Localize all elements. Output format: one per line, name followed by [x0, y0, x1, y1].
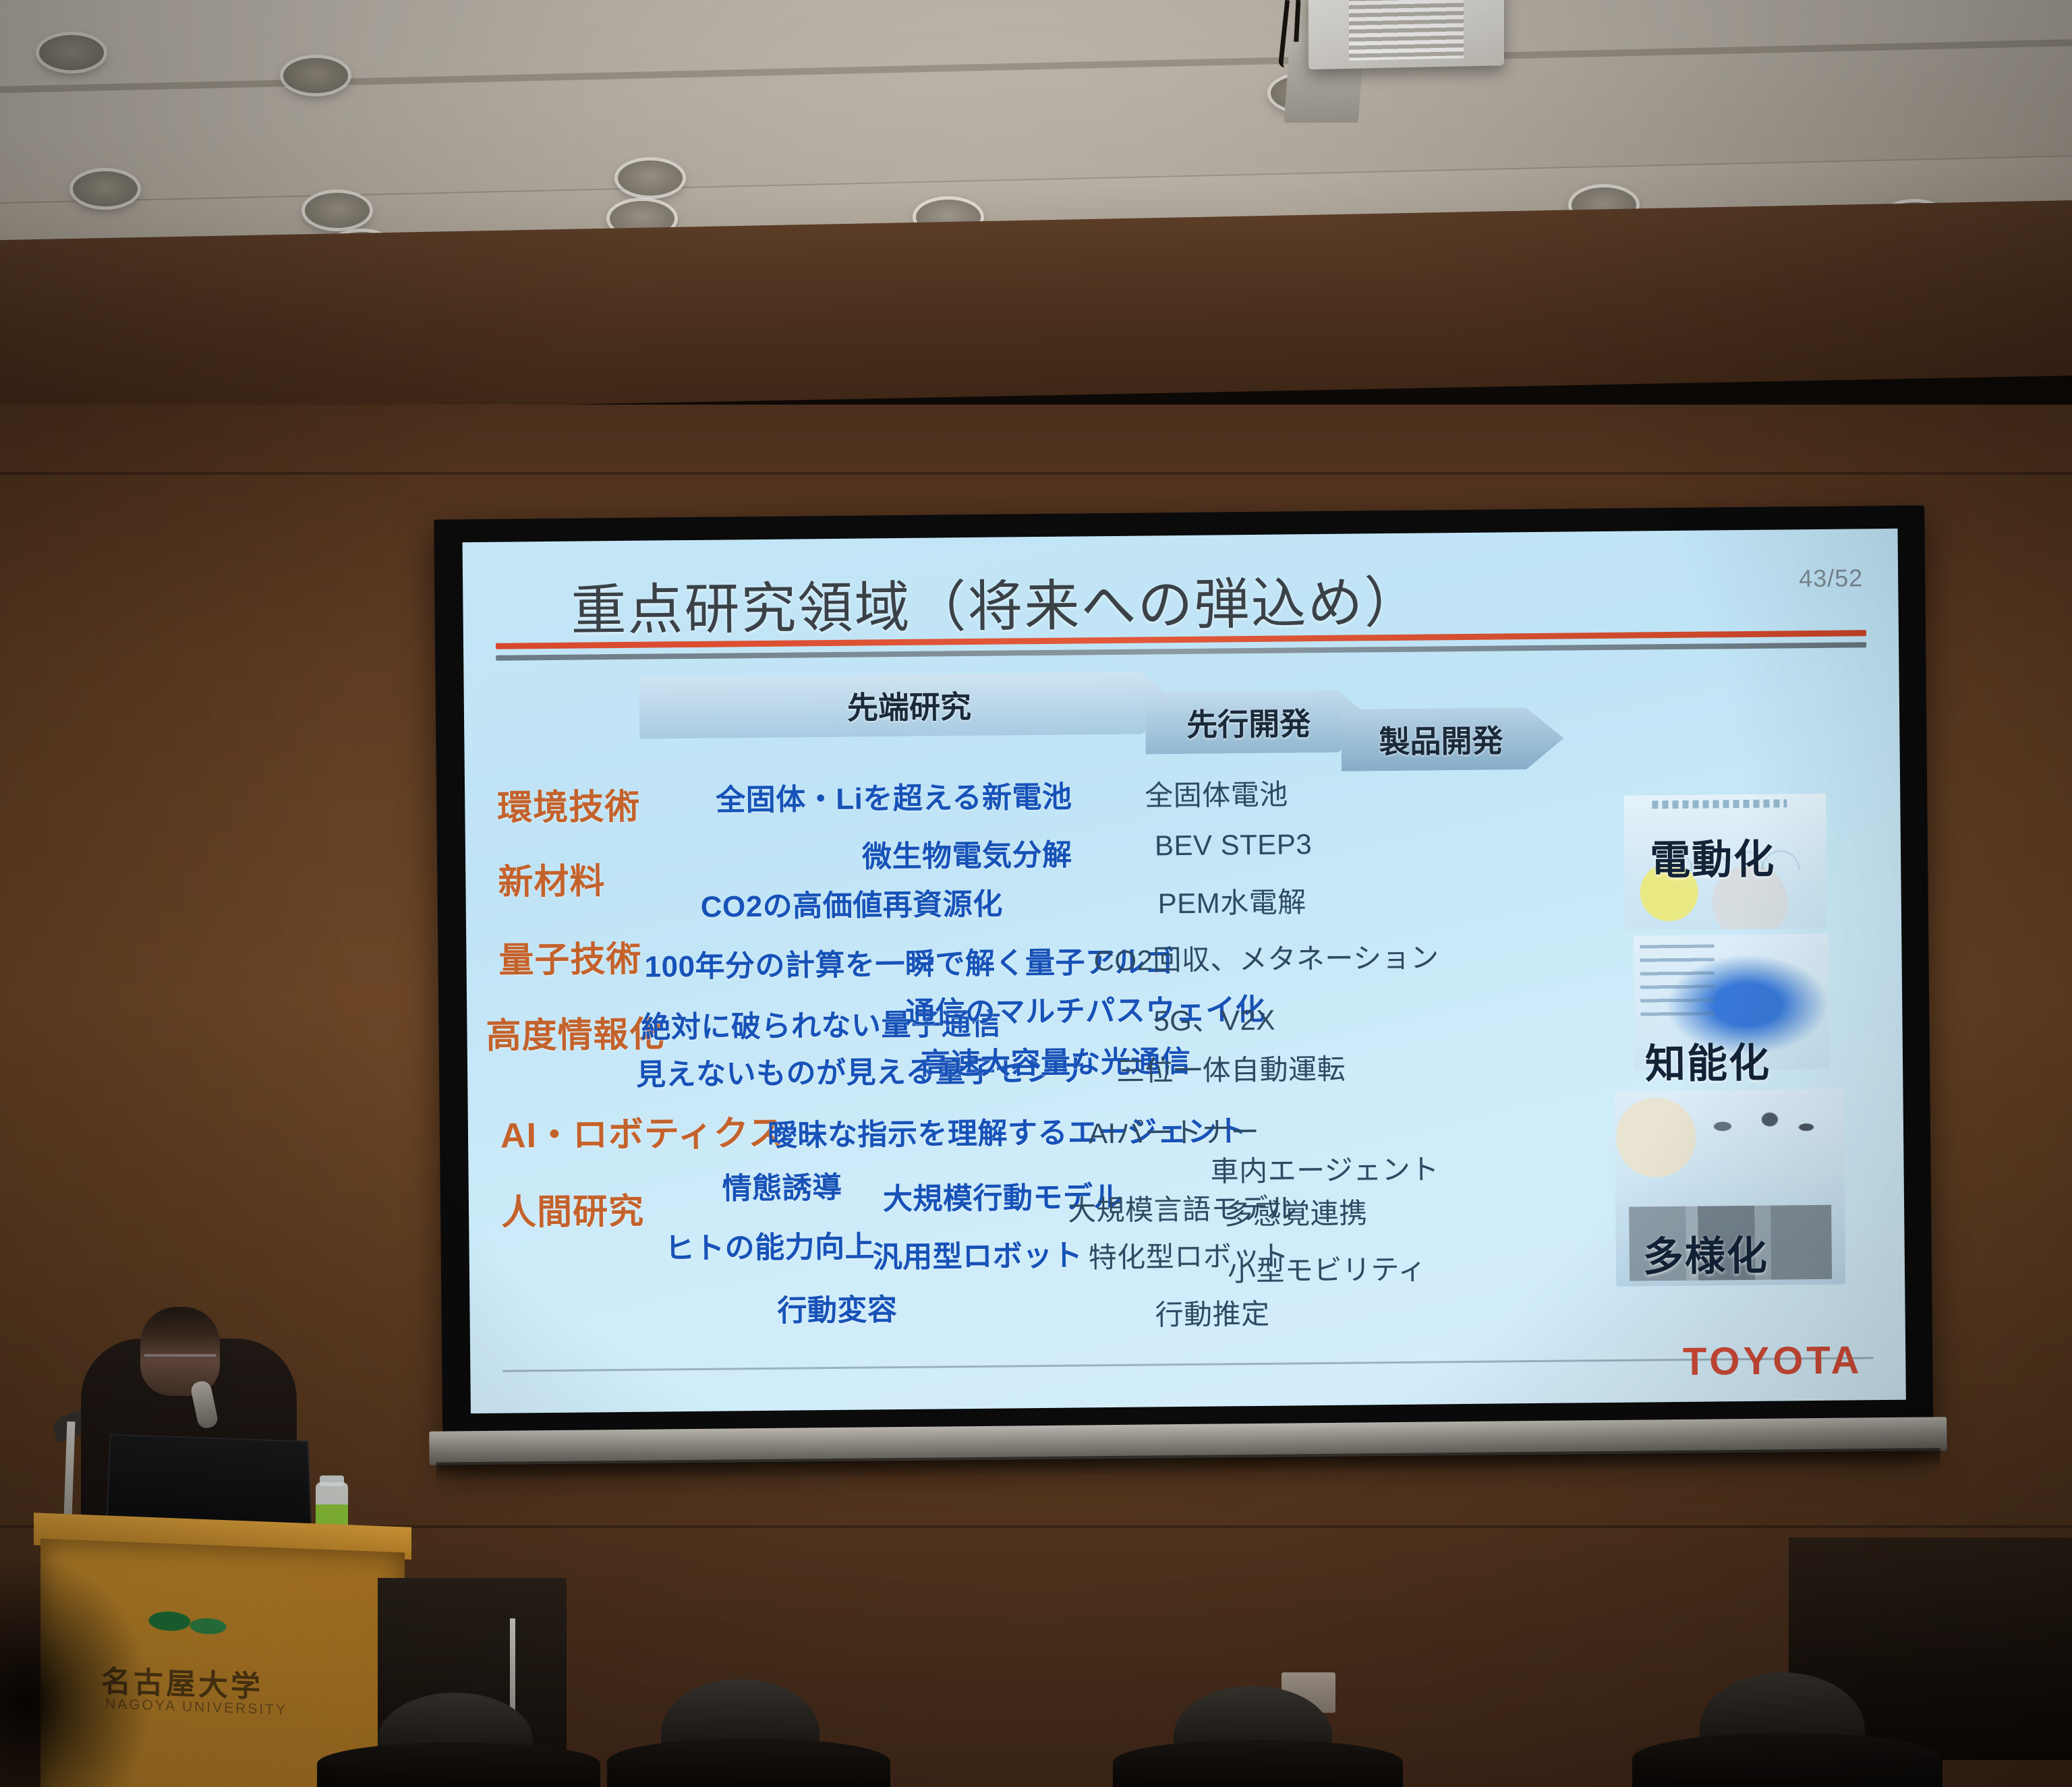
audience-shoulders: [317, 1742, 600, 1787]
category-label-environment: 環境技術: [497, 778, 641, 830]
slide-footer-rule: [502, 1357, 1873, 1372]
phase-arrow-band: 先端研究 先行開発 製品開発: [463, 661, 1899, 762]
ceiling-downlight-icon: [39, 35, 104, 70]
research-item: 全固体・Liを超える新電池: [716, 773, 1072, 819]
projection-screen: 重点研究領域（将来への弾込め） 43/52 先端研究 先行開発 製品開発 環境技…: [434, 505, 1934, 1477]
audience-shoulders: [1113, 1740, 1403, 1787]
ceiling-downlight-icon: [618, 160, 683, 196]
development-item: 行動推定: [1155, 1291, 1270, 1334]
phase-arrow-advanced-research: 先端研究: [639, 672, 1179, 739]
thumbnail-caption-strip: [1652, 799, 1787, 809]
phase-label: 製品開発: [1379, 716, 1503, 762]
projector-vent-icon: [1349, 0, 1464, 61]
wall-seam: [0, 472, 2072, 475]
category-label-quantum: 量子技術: [498, 931, 642, 983]
phase-label: 先端研究: [847, 682, 972, 728]
toyota-logo: TOYOTA: [1683, 1337, 1863, 1384]
research-item: 汎用型ロボット: [872, 1231, 1083, 1276]
thumbnail-text-lines: [1640, 944, 1715, 1026]
product-theme-intelligence: 知能化: [1645, 1030, 1771, 1090]
development-item: 全固体電池: [1145, 772, 1288, 815]
category-label-new-materials: 新材料: [498, 852, 606, 904]
ceiling-projector: [1308, 0, 1504, 69]
development-item: CO2回収、メタネーション: [1093, 935, 1439, 979]
foreground-shadow: [0, 1558, 148, 1787]
glasses-icon: [144, 1354, 216, 1365]
research-item: 情態誘導: [722, 1163, 842, 1208]
category-label-human-research: 人間研究: [501, 1183, 645, 1235]
development-item: BEV STEP3: [1155, 828, 1313, 862]
development-item: PEM水電解: [1157, 879, 1306, 922]
audience-shoulders: [607, 1738, 890, 1787]
phase-arrow-product-development: 製品開発: [1341, 707, 1564, 771]
slide-page-number: 43/52: [1799, 564, 1863, 593]
phase-label: 先行開発: [1186, 699, 1311, 745]
ceiling-downlight-icon: [73, 171, 138, 206]
research-item: ヒトの能力向上: [664, 1222, 875, 1267]
development-item: 多感覚連携: [1224, 1190, 1368, 1233]
research-item: 行動変容: [777, 1285, 898, 1330]
development-item: 小型モビリティ: [1228, 1247, 1427, 1290]
phase-arrow-advance-development: 先行開発: [1145, 690, 1375, 754]
development-item: 5G、V2X: [1153, 997, 1275, 1040]
research-item: CO2の高価値再資源化: [700, 880, 1003, 926]
development-item: 車内エージェント: [1210, 1146, 1439, 1190]
product-theme-electrification: 電動化: [1650, 827, 1776, 887]
ceiling-downlight-icon: [305, 193, 370, 228]
lecture-hall-scene: 重点研究領域（将来への弾込め） 43/52 先端研究 先行開発 製品開発 環境技…: [0, 0, 2072, 1787]
research-item: 微生物電気分解: [862, 831, 1072, 876]
development-item: AIパートナー: [1089, 1109, 1260, 1152]
presentation-slide: 重点研究領域（将来への弾込め） 43/52 先端研究 先行開発 製品開発 環境技…: [463, 529, 1906, 1413]
slide-title: 重点研究領域（将来への弾込め）: [571, 558, 1421, 646]
thumbnail-figures-graphic: [1696, 1101, 1831, 1183]
nagoya-university-emblem-icon: [145, 1597, 233, 1653]
category-label-ai-robotics: AI・ロボティクス: [500, 1105, 784, 1158]
audience-shoulders: [1632, 1733, 1942, 1787]
development-item: 三位一体自動運転: [1116, 1047, 1346, 1090]
product-theme-diversification: 多様化: [1642, 1223, 1768, 1283]
ceiling-downlight-icon: [283, 58, 348, 93]
